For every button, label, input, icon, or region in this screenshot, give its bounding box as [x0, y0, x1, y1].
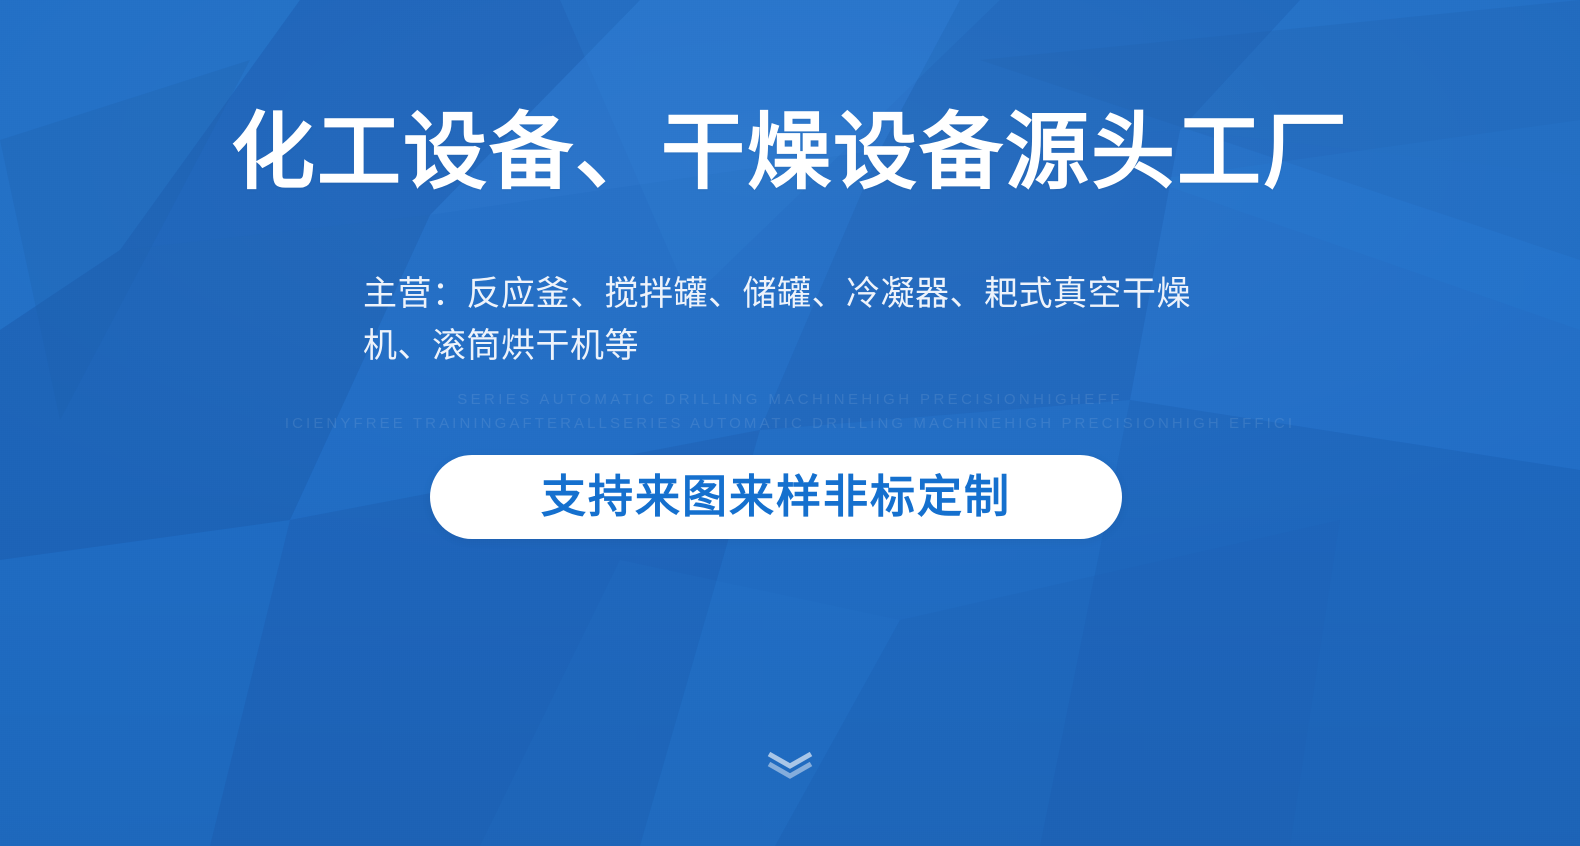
banner-subtitle: 主营：反应釜、搅拌罐、储罐、冷凝器、耙式真空干燥机、滚筒烘干机等 [363, 268, 1213, 372]
banner-content: 化工设备、干燥设备源头工厂 主营：反应釜、搅拌罐、储罐、冷凝器、耙式真空干燥机、… [0, 0, 1580, 846]
scroll-down-button[interactable] [762, 748, 818, 782]
custom-order-cta-button[interactable]: 支持来图来样非标定制 [430, 455, 1122, 539]
watermark-text-line-2: ICIENYFREE TRAININGAFTERALLSERIES AUTOMA… [0, 415, 1580, 432]
double-chevron-down-icon [764, 749, 816, 781]
watermark-text-line-1: SERIES AUTOMATIC DRILLING MACHINEHIGH PR… [0, 391, 1580, 408]
hero-banner: 化工设备、干燥设备源头工厂 主营：反应釜、搅拌罐、储罐、冷凝器、耙式真空干燥机、… [0, 0, 1580, 846]
page-title: 化工设备、干燥设备源头工厂 [0, 105, 1580, 199]
